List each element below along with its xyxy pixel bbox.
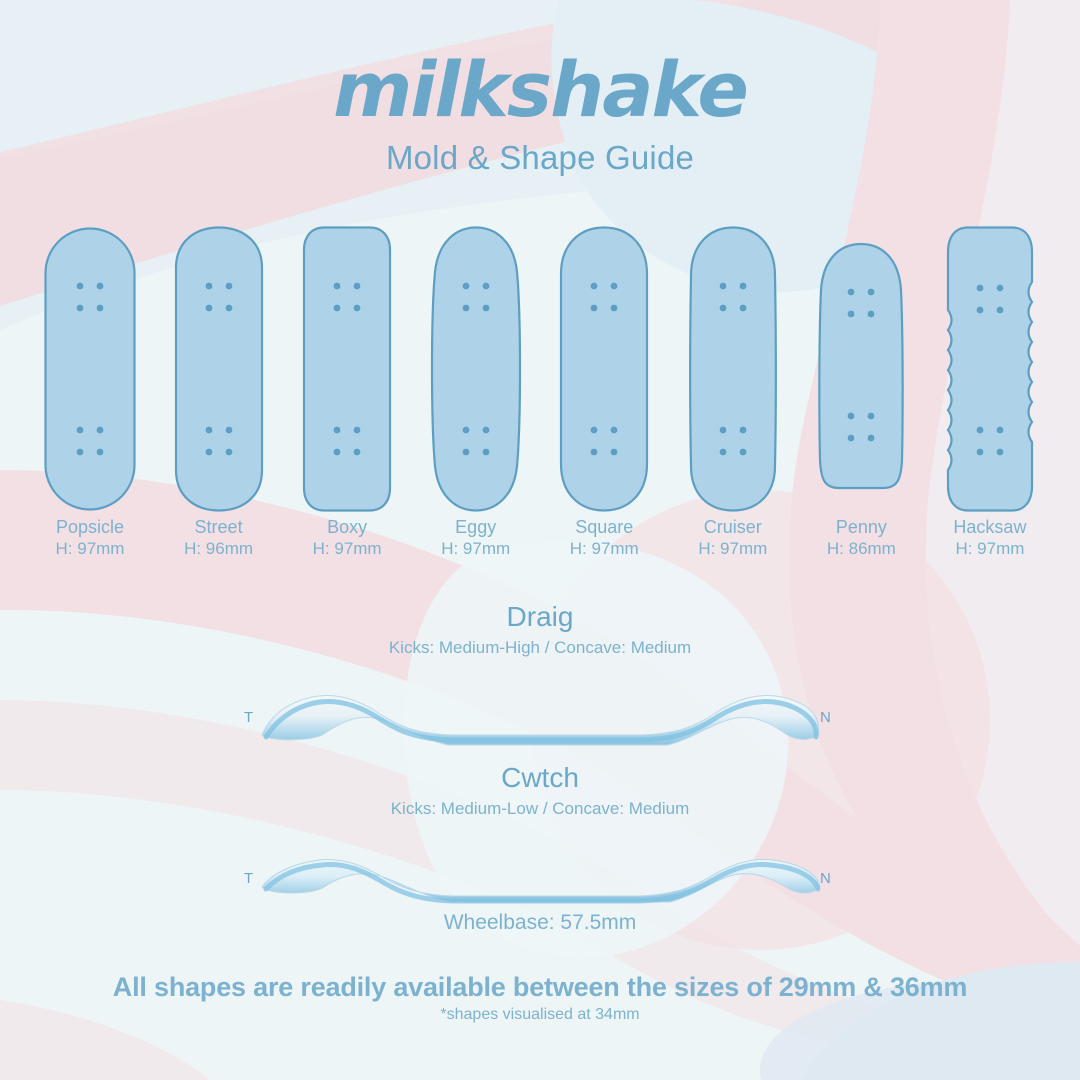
shape-label-cruiser: Cruiser H: 97mm bbox=[683, 516, 783, 576]
shape-popsicle bbox=[40, 224, 140, 524]
shape-height: H: 97mm bbox=[426, 538, 526, 560]
shape-street bbox=[169, 224, 269, 524]
shape-eggy bbox=[426, 224, 526, 524]
mold-name: Cwtch bbox=[0, 761, 1080, 795]
mold-profile-cwtch: T N bbox=[0, 825, 1080, 915]
shape-silhouette-row bbox=[40, 224, 1040, 524]
shape-height: H: 96mm bbox=[169, 538, 269, 560]
shape-boxy bbox=[297, 224, 397, 524]
brand-title: milkshake bbox=[0, 48, 1080, 132]
mold-name: Draig bbox=[0, 600, 1080, 634]
shape-height: H: 97mm bbox=[940, 538, 1040, 560]
shape-height: H: 97mm bbox=[683, 538, 783, 560]
cwtch-profile-svg bbox=[0, 825, 1080, 915]
shape-name: Square bbox=[554, 516, 654, 538]
shape-label-hacksaw: Hacksaw H: 97mm bbox=[940, 516, 1040, 576]
shape-hacksaw bbox=[940, 224, 1040, 524]
shape-cruiser bbox=[683, 224, 783, 524]
shape-square bbox=[554, 224, 654, 524]
shape-name: Boxy bbox=[297, 516, 397, 538]
shape-label-street: Street H: 96mm bbox=[169, 516, 269, 576]
shape-name: Cruiser bbox=[683, 516, 783, 538]
mold-draig: Draig Kicks: Medium-High / Concave: Medi… bbox=[0, 600, 1080, 754]
shape-name: Popsicle bbox=[40, 516, 140, 538]
page-subtitle: Mold & Shape Guide bbox=[0, 138, 1080, 178]
shape-label-penny: Penny H: 86mm bbox=[811, 516, 911, 576]
mold-cwtch: Cwtch Kicks: Medium-Low / Concave: Mediu… bbox=[0, 761, 1080, 915]
availability-note: All shapes are readily available between… bbox=[0, 972, 1080, 1003]
mold-spec: Kicks: Medium-Low / Concave: Medium bbox=[0, 797, 1080, 821]
header: milkshake Mold & Shape Guide bbox=[0, 48, 1080, 178]
shape-label-square: Square H: 97mm bbox=[554, 516, 654, 576]
shape-label-boxy: Boxy H: 97mm bbox=[297, 516, 397, 576]
shape-name: Street bbox=[169, 516, 269, 538]
shape-penny bbox=[811, 224, 911, 524]
mold-profile-draig: T N bbox=[0, 664, 1080, 754]
shape-label-popsicle: Popsicle H: 97mm bbox=[40, 516, 140, 576]
shape-height: H: 86mm bbox=[811, 538, 911, 560]
draig-profile-svg bbox=[0, 664, 1080, 754]
wheelbase-label: Wheelbase: 57.5mm bbox=[0, 911, 1080, 935]
shape-name: Eggy bbox=[426, 516, 526, 538]
shape-name: Penny bbox=[811, 516, 911, 538]
mold-spec: Kicks: Medium-High / Concave: Medium bbox=[0, 636, 1080, 660]
shape-height: H: 97mm bbox=[297, 538, 397, 560]
visualised-size-note: *shapes visualised at 34mm bbox=[0, 1006, 1080, 1024]
poster-canvas: milkshake Mold & Shape Guide bbox=[0, 0, 1080, 1080]
shape-label-eggy: Eggy H: 97mm bbox=[426, 516, 526, 576]
shape-label-row: Popsicle H: 97mm Street H: 96mm Boxy H: … bbox=[40, 516, 1040, 576]
shape-name: Hacksaw bbox=[940, 516, 1040, 538]
shape-height: H: 97mm bbox=[40, 538, 140, 560]
shape-height: H: 97mm bbox=[554, 538, 654, 560]
